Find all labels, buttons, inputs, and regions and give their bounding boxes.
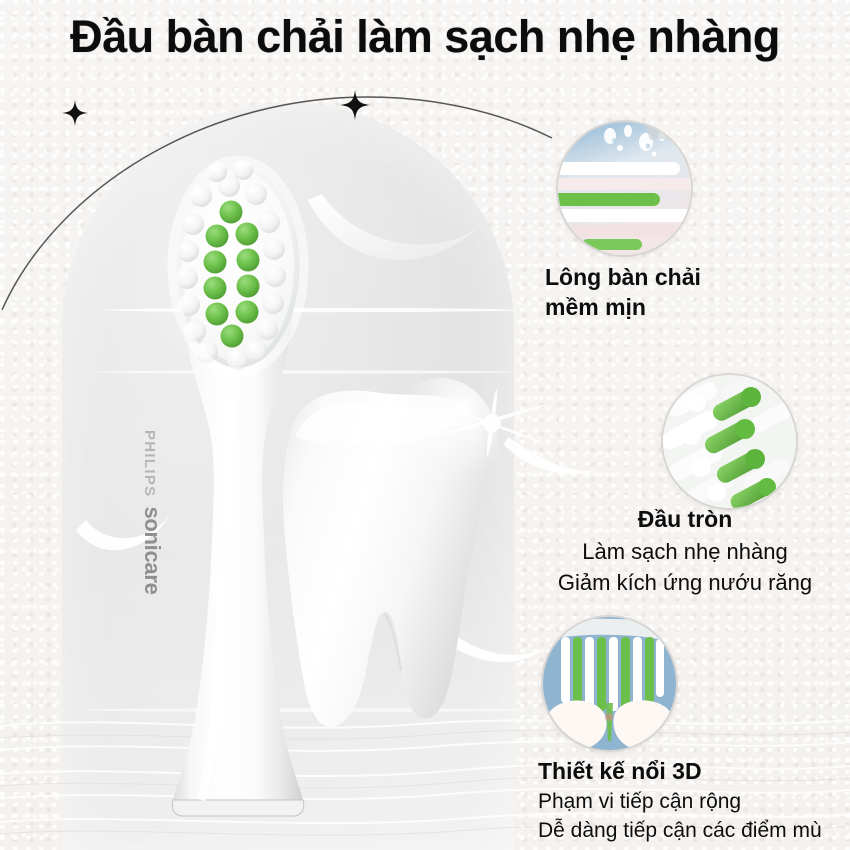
feature-line: Giảm kích ứng nướu răng: [520, 567, 850, 598]
page-title: Đầu bàn chải làm sạch nhẹ nhàng: [0, 10, 850, 63]
feature-caption-rounded-tips: Đầu tròn Làm sạch nhẹ nhàng Giảm kích ứn…: [520, 503, 850, 598]
feature-heading-line2: mềm mịn: [545, 292, 805, 322]
feature-heading: Thiết kế nổi 3D: [538, 756, 850, 788]
sparkle-icon: [340, 90, 370, 120]
sparkle-icon: [62, 100, 88, 126]
feature-caption-3d-contour: Thiết kế nổi 3D Phạm vi tiếp cận rộng Dễ…: [538, 756, 850, 846]
feature-heading: Lông bàn chải: [545, 262, 805, 292]
product-marketing-image: PHILIPS sonicare Đầu bàn chải làm sạch n…: [0, 0, 850, 850]
swoosh-arc-line: [0, 60, 560, 320]
feature-image-3d-contour: [543, 617, 676, 750]
feature-image-rounded-tips: [663, 375, 796, 508]
feature-line: Làm sạch nhẹ nhàng: [520, 536, 850, 567]
feature-heading: Đầu tròn: [520, 503, 850, 536]
feature-image-soft-bristles: [558, 122, 691, 255]
feature-line: Phạm vi tiếp cận rộng: [538, 788, 850, 817]
feature-caption-soft-bristles: Lông bàn chải mềm mịn: [545, 262, 805, 323]
feature-line: Dễ dàng tiếp cận các điểm mù: [538, 817, 850, 846]
